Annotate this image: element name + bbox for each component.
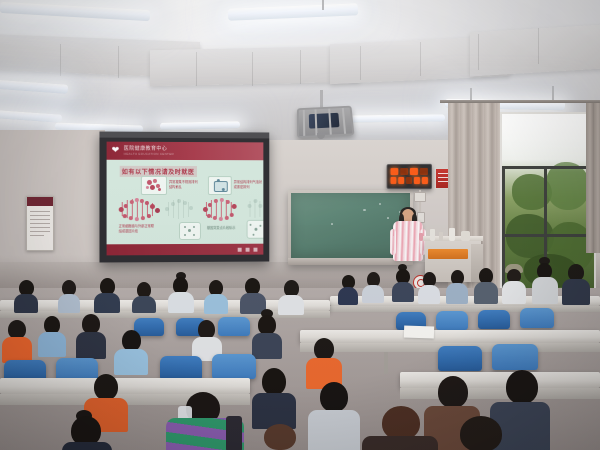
slide-page-dot	[253, 248, 257, 252]
student-torso	[38, 332, 66, 357]
lectern-drawer[interactable]	[428, 249, 468, 259]
student	[240, 278, 266, 313]
student-head	[262, 368, 286, 395]
projector-mount	[320, 90, 323, 108]
soffit-seam	[118, 46, 119, 78]
soffit-seam	[196, 52, 197, 86]
slide-page-dot	[238, 248, 242, 252]
student-head	[438, 376, 468, 408]
student	[338, 275, 358, 303]
auditorium-seat[interactable]	[438, 346, 482, 371]
student-torso	[58, 294, 80, 313]
student-head	[314, 338, 334, 360]
slide-callout-box	[208, 176, 232, 195]
student-torso	[362, 285, 384, 303]
led-segment	[410, 168, 418, 175]
slide-callout-text: 或紧密排列	[234, 185, 250, 190]
student-torso	[532, 277, 558, 304]
student-torso	[132, 296, 156, 313]
window-mullion	[502, 166, 594, 169]
projector-lens	[309, 113, 340, 129]
student-torso	[446, 283, 468, 304]
student	[474, 268, 498, 303]
ceiling-soffit	[470, 24, 600, 77]
projection-screen: ❤ 医院健康教育中心 HEALTH EDUCATION CENTER 如有以下情…	[99, 132, 269, 263]
auditorium-seat[interactable]	[160, 356, 202, 380]
student-head	[382, 406, 420, 440]
led-clock-display[interactable]	[387, 164, 432, 189]
student-head	[320, 382, 348, 412]
led-segment	[422, 177, 428, 184]
led-segment	[390, 177, 396, 184]
presenter-arm	[390, 229, 396, 255]
backpack-strap	[226, 416, 242, 450]
student-torso	[474, 282, 498, 304]
student-head	[460, 416, 502, 450]
student-torso	[562, 279, 590, 305]
student-head	[122, 330, 141, 351]
curtain-right[interactable]	[586, 103, 600, 253]
slide-callout-box	[247, 220, 264, 239]
soffit-seam	[252, 52, 253, 86]
student-head	[506, 370, 538, 404]
led-segment	[390, 168, 398, 175]
student	[58, 280, 80, 312]
projector-cage-bar	[303, 110, 305, 136]
window-mullion	[502, 234, 594, 237]
slide-footer-bar	[107, 244, 264, 256]
slide-callout-box	[179, 222, 201, 240]
student	[278, 280, 304, 314]
student-torso	[252, 333, 282, 359]
handout-paper[interactable]	[404, 325, 434, 338]
desk-front-panel	[330, 306, 600, 312]
student	[204, 280, 228, 313]
auditorium-seat[interactable]	[478, 310, 510, 329]
student-torso	[76, 332, 106, 359]
led-segment	[414, 177, 420, 184]
student-torso	[502, 281, 526, 304]
notice-header	[27, 197, 53, 206]
soffit-seam	[538, 28, 539, 64]
student-head	[264, 424, 296, 450]
desk-leg	[384, 352, 388, 374]
student-head	[258, 315, 276, 335]
student-torso	[308, 410, 360, 450]
student	[168, 276, 194, 312]
framed-notice	[26, 196, 54, 251]
student-torso	[168, 292, 194, 313]
student	[362, 272, 384, 302]
student-head	[94, 374, 118, 400]
student	[308, 382, 360, 450]
wall-switch-box[interactable]	[414, 192, 426, 202]
student-head	[82, 314, 100, 334]
screen-casing	[99, 132, 269, 139]
dna-helix-illustration	[165, 198, 205, 220]
student	[436, 416, 526, 450]
student	[94, 278, 120, 312]
student	[446, 270, 468, 303]
desk-row	[300, 330, 600, 343]
student-torso	[362, 436, 438, 450]
student	[76, 314, 106, 358]
soffit-seam	[60, 44, 61, 76]
student	[252, 314, 282, 358]
slide-page-dot	[246, 248, 250, 252]
auditorium-seat[interactable]	[218, 317, 250, 336]
soffit-seam	[300, 50, 301, 84]
student	[562, 264, 590, 304]
soffit-seam	[360, 46, 361, 80]
student	[114, 330, 148, 374]
dna-helix-illustration	[203, 198, 249, 220]
student	[418, 272, 440, 303]
presentation-slide: ❤ 医院健康教育中心 HEALTH EDUCATION CENTER 如有以下情…	[107, 142, 264, 256]
student	[392, 268, 414, 302]
window-glare	[502, 114, 594, 172]
slide-body: 如有以下情况请及时就医 异常凝集不规则排列 结构紊乱 异常结	[107, 160, 264, 245]
soffit-seam	[420, 42, 421, 76]
water-bottle	[449, 228, 455, 241]
student-torso	[278, 295, 304, 315]
marker-pen	[419, 233, 423, 241]
led-segment	[398, 177, 404, 184]
student	[306, 338, 342, 388]
presenter-body	[393, 221, 423, 261]
classroom-scene: ❤ 医院健康教育中心 HEALTH EDUCATION CENTER 如有以下情…	[0, 0, 600, 450]
student	[502, 266, 526, 303]
led-segment	[420, 168, 428, 175]
heart-logo-icon: ❤	[112, 146, 121, 155]
slide-logo-subtext: HEALTH EDUCATION CENTER	[124, 152, 174, 156]
student-torso	[14, 294, 38, 313]
student	[532, 262, 558, 303]
student	[38, 316, 66, 356]
water-bottle	[430, 229, 435, 241]
student	[2, 320, 32, 362]
student	[14, 280, 38, 312]
led-segment	[406, 177, 412, 184]
slide-callout-box	[141, 176, 167, 195]
soffit-seam	[478, 34, 479, 70]
slide-callout-text: 结构紊乱	[169, 185, 182, 190]
student-torso	[392, 282, 414, 302]
student	[362, 406, 438, 450]
student-torso	[204, 294, 228, 314]
student	[250, 424, 310, 450]
student	[252, 368, 296, 428]
dna-helix-illustration	[119, 198, 167, 220]
slide-callout-text: 结或基因片段	[119, 229, 138, 234]
ceiling-soffit	[150, 46, 360, 86]
student	[132, 282, 156, 312]
student-torso	[338, 287, 358, 305]
student	[62, 414, 112, 450]
dna-helix-illustration	[247, 198, 264, 220]
tissue-box	[461, 231, 470, 241]
auditorium-seat[interactable]	[436, 311, 468, 330]
student	[166, 392, 244, 450]
light-hanger-rod	[322, 0, 324, 10]
student-torso	[94, 293, 120, 313]
student-torso	[418, 285, 440, 304]
student-torso	[114, 349, 148, 375]
ceiling-projector	[297, 106, 355, 139]
led-segment	[400, 168, 408, 175]
projector-cage-bar	[342, 108, 346, 134]
auditorium-seat[interactable]	[520, 308, 554, 328]
student-torso	[62, 442, 112, 450]
cup	[439, 232, 443, 241]
auditorium-seat[interactable]	[492, 344, 538, 370]
auditorium-seat[interactable]	[212, 354, 256, 379]
slide-callout-text: 基因突变点片段标示	[207, 226, 235, 231]
